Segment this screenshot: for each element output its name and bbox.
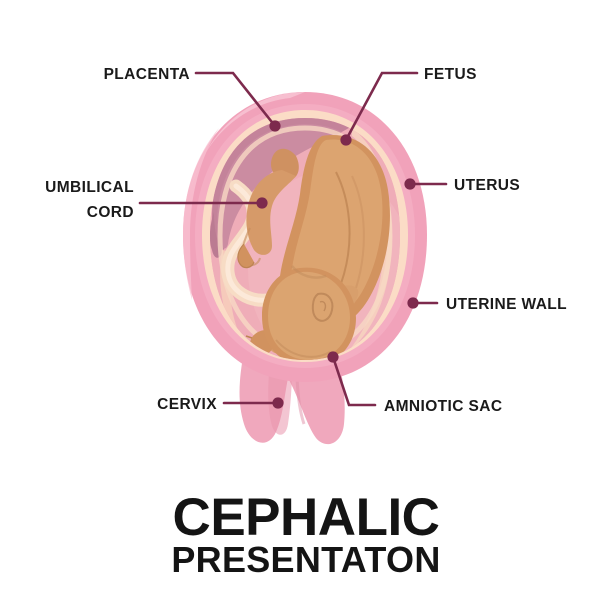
diagram-canvas: PLACENTA FETUS UMBILICAL CORD UTERUS UTE… — [0, 0, 612, 612]
label-fetus: FETUS — [424, 66, 477, 83]
label-placenta: PLACENTA — [104, 66, 190, 83]
label-umbilical-line1: UMBILICAL — [45, 179, 134, 196]
cephalic-presentation-illustration: PLACENTA FETUS UMBILICAL CORD UTERUS UTE… — [0, 0, 612, 612]
title-line-2: PRESENTATON — [171, 539, 440, 580]
label-amniotic-sac: AMNIOTIC SAC — [384, 398, 502, 415]
label-uterus: UTERUS — [454, 177, 520, 194]
label-cervix: CERVIX — [157, 396, 217, 413]
dot-fetus — [340, 134, 351, 145]
dot-amniotic-sac — [327, 351, 338, 362]
dot-placenta — [269, 120, 280, 131]
dot-uterine-wall — [407, 297, 418, 308]
dot-umbilical — [256, 197, 267, 208]
dot-cervix — [272, 397, 283, 408]
label-umbilical-line2: CORD — [87, 204, 134, 221]
dot-uterus — [404, 178, 415, 189]
label-uterine-wall: UTERINE WALL — [446, 296, 567, 313]
